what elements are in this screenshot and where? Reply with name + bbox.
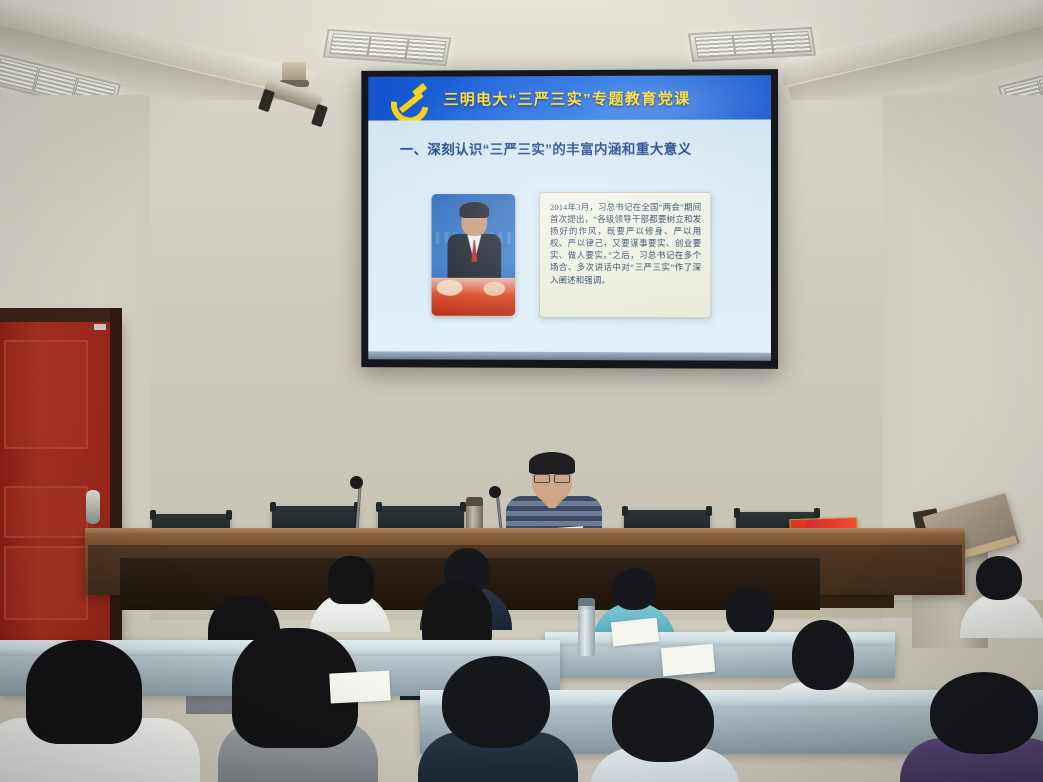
glasses-icon bbox=[534, 474, 570, 481]
slide-title-bar: 三明电大“三严三实”专题教育党课 bbox=[368, 75, 771, 120]
handout-paper-2 bbox=[661, 644, 715, 676]
handout-paper-1 bbox=[611, 618, 659, 647]
door-header bbox=[0, 308, 122, 322]
portrait-flowers bbox=[432, 278, 516, 316]
water-bottle-cap bbox=[578, 598, 595, 606]
slide-heading: 一、深刻认识“三严三实”的丰富内涵和重大意义 bbox=[400, 138, 692, 159]
door-panel-middle bbox=[4, 486, 88, 538]
slide-body-text: 2014年3月，习总书记在全国“两会”期间首次提出，“各级领导干部都要树立和发扬… bbox=[550, 202, 701, 287]
door-panel-top bbox=[4, 340, 88, 449]
presenter-hair bbox=[529, 452, 575, 474]
thermos-cap bbox=[466, 497, 483, 506]
handout-paper-3 bbox=[329, 670, 390, 703]
projected-slide: 三明电大“三严三实”专题教育党课 一、深刻认识“三严三实”的丰富内涵和重大意义 … bbox=[368, 75, 771, 361]
microphone-icon-1 bbox=[350, 476, 363, 489]
door-panel-bottom bbox=[4, 546, 88, 620]
water-bottle bbox=[578, 604, 595, 656]
door-handle-icon[interactable] bbox=[86, 490, 100, 524]
attendee-front-2 bbox=[218, 628, 378, 782]
attendee-front-1 bbox=[0, 640, 200, 782]
attendee-far-1 bbox=[310, 556, 390, 626]
lecture-hall-scene: 三明电大“三严三实”专题教育党课 一、深刻认识“三严三实”的丰富内涵和重大意义 … bbox=[0, 0, 1043, 782]
hammer-and-sickle-party-emblem-icon bbox=[388, 82, 432, 116]
attendee-far-5 bbox=[960, 556, 1043, 632]
portrait-hair bbox=[459, 202, 489, 218]
attendee-front-3 bbox=[418, 656, 578, 782]
slide-speaker-portrait-photo bbox=[432, 194, 516, 316]
red-door[interactable] bbox=[0, 318, 122, 648]
projection-screen: 三明电大“三严三实”专题教育党课 一、深刻认识“三严三实”的丰富内涵和重大意义 … bbox=[361, 69, 778, 369]
screen-bottom-bar bbox=[368, 351, 771, 361]
door-plate-icon bbox=[94, 324, 106, 330]
slide-title: 三明电大“三严三实”专题教育党课 bbox=[444, 87, 691, 109]
attendee-front-5 bbox=[900, 672, 1043, 782]
attendee-front-4 bbox=[590, 678, 740, 782]
slide-text-box: 2014年3月，习总书记在全国“两会”期间首次提出，“各级领导干部都要树立和发扬… bbox=[539, 192, 711, 318]
